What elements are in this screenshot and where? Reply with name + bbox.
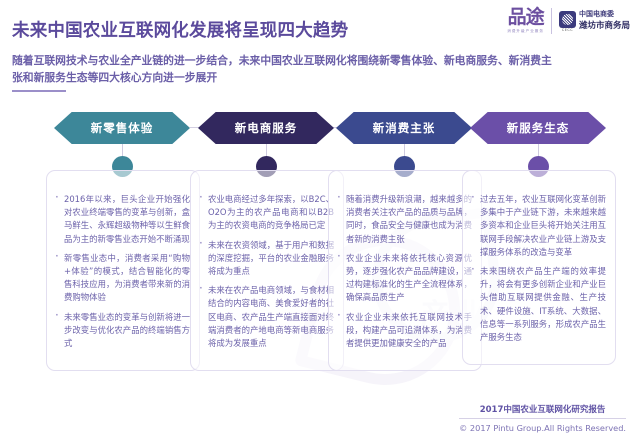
footer: 2017中国农业互联网化研究报告 © 2017 Pintu Group.All … — [459, 403, 626, 433]
cecc-abbr: CECC — [559, 28, 576, 32]
list-item: 2016年以来，巨头企业开始强化对农业终端零售的变革与创新，盒马鲜生、永辉超级物… — [54, 193, 190, 246]
trend-column-1: 新零售体验 2016年以来，巨头企业开始强化对农业终端零售的变革与创新，盒马鲜生… — [46, 112, 201, 144]
cecc-logo: CECC 中国电商委 潍坊市商务局 — [559, 10, 630, 31]
list-item: 农业企业未来依托互联网技术手段，构建产品可追溯体系，为消费者提供更加健康安全的产… — [336, 311, 472, 351]
list-item: 农业企业未来将依托核心资源优势，逐步强化农产品品牌建设，通过构建标准化的生产全流… — [336, 252, 472, 305]
bullet-list-3: 随着消费升级新浪潮，越来越多的消费者关注农产品的品质与品牌，同时，食品安全与健康… — [336, 193, 472, 350]
pintu-logo: 品途 消费升级产业服务 — [507, 8, 544, 34]
list-item: 未来围绕农产品生产端的效率提升，将会有更多创新企业和产业巨头借助互联网提供金融、… — [470, 265, 606, 344]
trend-card-2: 农业电商经过多年探索，以B2C、O2O为主的农产品电商和以B2B为主的农资电商的… — [190, 170, 344, 371]
trend-card-4: 过去五年，农业互联网化变革创新多集中于产业链下游，未来越来越多资本和企业巨头将开… — [462, 170, 616, 365]
trend-card-3: 随着消费升级新浪潮，越来越多的消费者关注农产品的品质与品牌，同时，食品安全与健康… — [328, 170, 482, 371]
trend-header-4[interactable]: 新服务生态 — [470, 112, 606, 144]
logo-divider — [551, 8, 552, 34]
copyright-text: © 2017 Pintu Group.All Rights Reserved. — [459, 423, 626, 433]
trend-column-2: 新电商服务 农业电商经过多年探索，以B2C、O2O为主的农产品电商和以B2B为主… — [190, 112, 345, 144]
trend-heading-label: 新零售体验 — [91, 120, 154, 136]
org-line-2: 潍坊市商务局 — [579, 21, 630, 32]
logo-group: 品途 消费升级产业服务 CECC 中国电商委 潍坊市商务局 — [507, 8, 630, 34]
trend-header-1[interactable]: 新零售体验 — [54, 112, 190, 144]
page-subtitle: 随着互联网技术与农业全产业链的进一步结合，未来中国农业互联网化将围绕新零售体验、… — [12, 52, 557, 86]
trend-heading-label: 新服务生态 — [507, 120, 570, 136]
trend-column-4: 新服务生态 过去五年，农业互联网化变革创新多集中于产业链下游，未来越来越多资本和… — [462, 112, 617, 144]
pintu-logo-tagline: 消费升级产业服务 — [507, 30, 544, 34]
org-line-1: 中国电商委 — [579, 10, 630, 19]
report-title: 2017中国农业互联网化研究报告 — [459, 403, 626, 419]
list-item: 过去五年，农业互联网化变革创新多集中于产业链下游，未来越来越多资本和企业巨头将开… — [470, 193, 606, 259]
globe-icon — [559, 11, 576, 28]
trend-heading-label: 新电商服务 — [235, 120, 298, 136]
trend-card-1: 2016年以来，巨头企业开始强化对农业终端零售的变革与创新，盒马鲜生、永辉超级物… — [46, 170, 200, 371]
bullet-list-4: 过去五年，农业互联网化变革创新多集中于产业链下游，未来越来越多资本和企业巨头将开… — [470, 193, 606, 344]
page-title: 未来中国农业互联网化发展将呈现四大趋势 — [12, 17, 348, 42]
list-item: 随着消费升级新浪潮，越来越多的消费者关注农产品的品质与品牌，同时，食品安全与健康… — [336, 193, 472, 246]
bullet-list-1: 2016年以来，巨头企业开始强化对农业终端零售的变革与创新，盒马鲜生、永辉超级物… — [54, 193, 190, 350]
list-item: 未来在农资领域，基于用户和数据的深度挖掘，平台的农业金融服务将成为重点 — [198, 239, 334, 279]
trend-header-2[interactable]: 新电商服务 — [198, 112, 334, 144]
slide-root: 产业 未来中国农业互联网化发展将呈现四大趋势 随着互联网技术与农业全产业链的进一… — [0, 0, 640, 443]
list-item: 新零售业态中，消费者采用“购物+体验”的模式，结合智能化的零售科技应用，为消费者… — [54, 252, 190, 305]
list-item: 未来零售业态的变革与创新将进一步改变与优化农产品的终端销售方式 — [54, 311, 190, 351]
trend-column-3: 新消费主张 随着消费升级新浪潮，越来越多的消费者关注农产品的品质与品牌，同时，食… — [328, 112, 483, 144]
trend-heading-label: 新消费主张 — [373, 120, 436, 136]
trend-header-3[interactable]: 新消费主张 — [336, 112, 472, 144]
pintu-logo-glyph: 品途 — [507, 8, 544, 27]
list-item: 未来在农产品电商领域，与食材相结合的内容电商、美食爱好者的社区电商、农产品生产端… — [198, 284, 334, 350]
bullet-list-2: 农业电商经过多年探索，以B2C、O2O为主的农产品电商和以B2B为主的农资电商的… — [198, 193, 334, 350]
list-item: 农业电商经过多年探索，以B2C、O2O为主的农产品电商和以B2B为主的农资电商的… — [198, 193, 334, 233]
subtitle-underline — [12, 90, 66, 92]
